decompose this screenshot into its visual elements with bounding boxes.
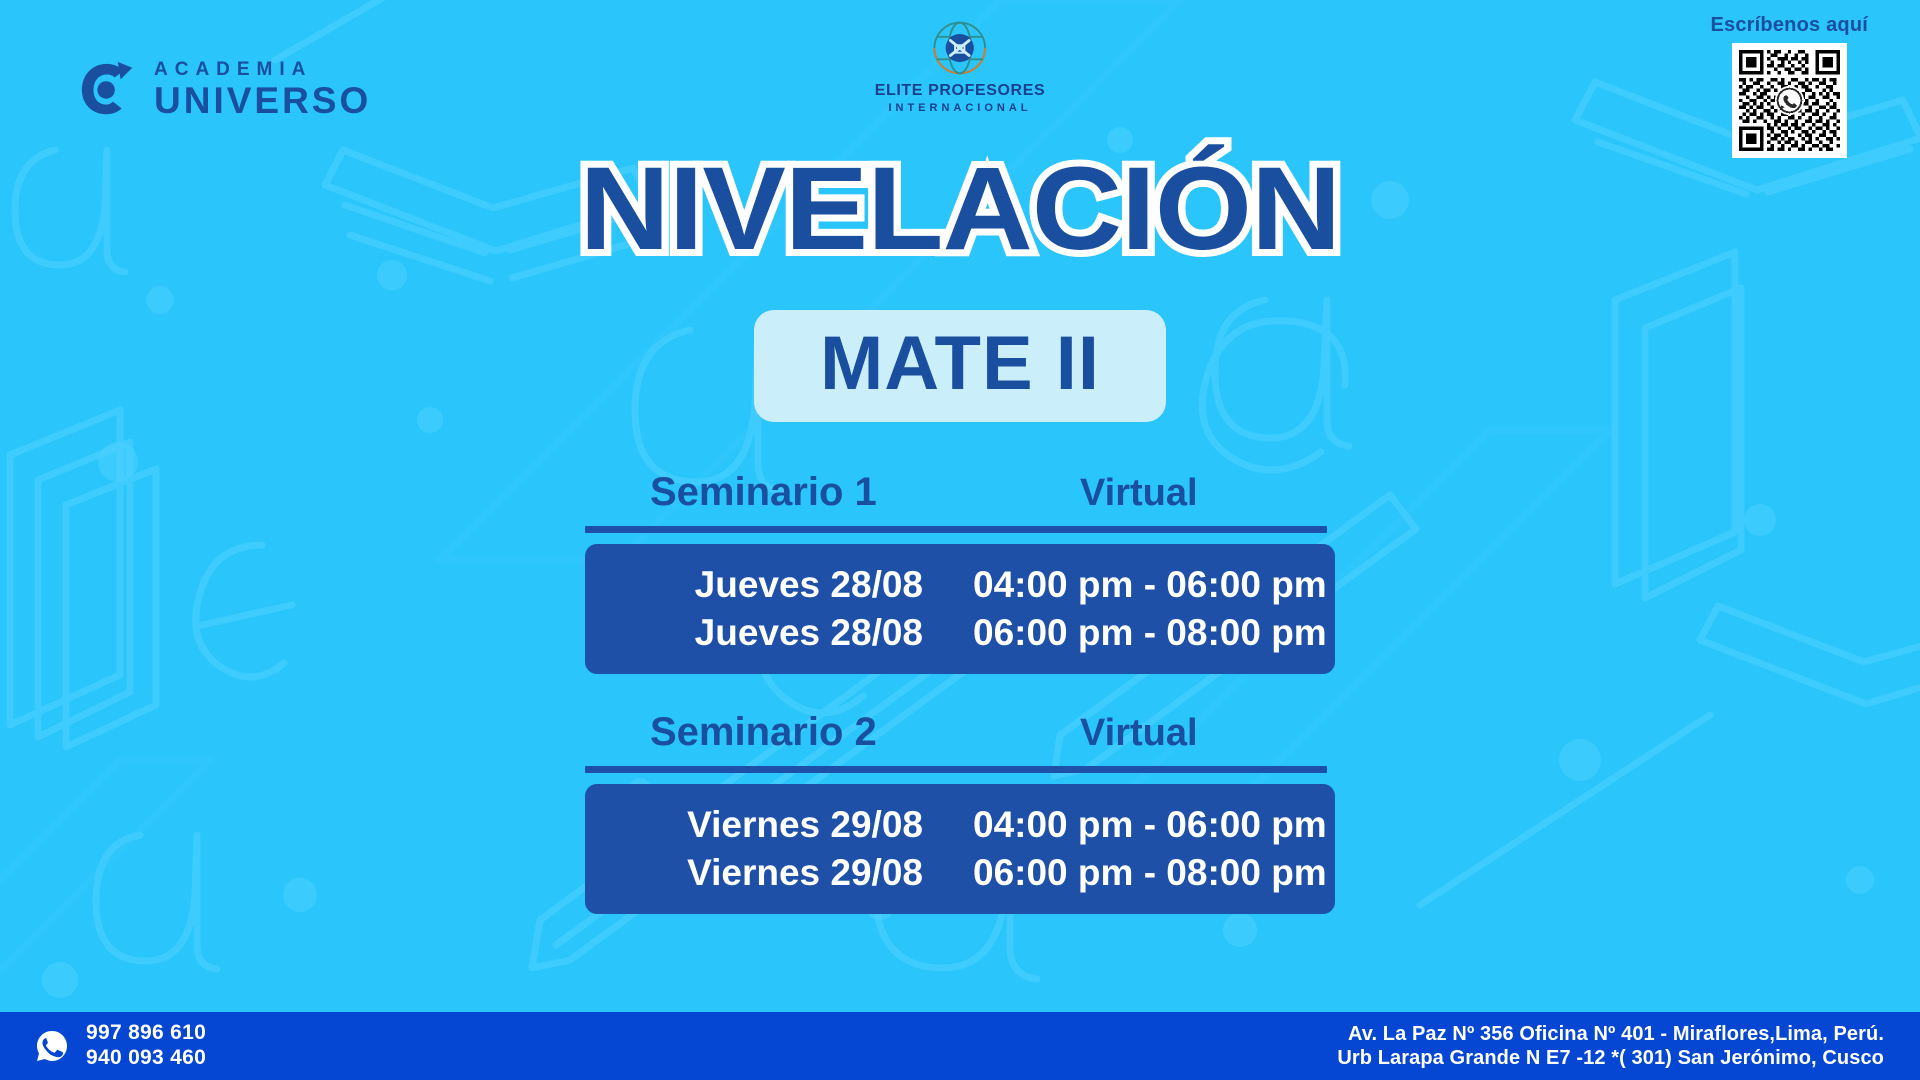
elite-logo-subtitle: INTERNACIONAL [888,102,1031,114]
schedule-row: Jueves 28/08 04:00 pm - 06:00 pm [585,560,1335,608]
section-divider [585,766,1327,773]
qr-code-image [1739,50,1840,151]
academia-universo-mark [78,58,140,120]
footer: 997 896 610 940 093 460 Av. La Paz Nº 35… [0,1012,1920,1080]
schedule-row: Viernes 29/08 04:00 pm - 06:00 pm [585,800,1335,848]
schedule-time: 06:00 pm - 08:00 pm [965,614,1335,651]
elite-profesores-logo: ELITE PROFESORES INTERNACIONAL [875,18,1046,114]
seminar-section-2: Seminario 2 Virtual Viernes 29/08 04:00 … [585,710,1335,766]
whatsapp-icon[interactable] [34,1028,70,1064]
qr-label: Escríbenos aquí [1711,14,1869,37]
address-line-1: Av. La Paz Nº 356 Oficina Nº 401 - Miraf… [1337,1022,1884,1046]
footer-address: Av. La Paz Nº 356 Oficina Nº 401 - Miraf… [1337,1022,1884,1070]
address-line-2: Urb Larapa Grande N E7 -12 *( 301) San J… [1337,1046,1884,1070]
section-mode: Virtual [1080,713,1198,755]
schedule-time: 06:00 pm - 08:00 pm [965,854,1335,891]
schedule-row: Viernes 29/08 06:00 pm - 08:00 pm [585,848,1335,896]
qr-block: Escríbenos aquí [1711,14,1869,158]
section-divider [585,526,1327,533]
academia-universo-logo: ACADEMIA UNIVERSO [78,58,371,120]
footer-contact: 997 896 610 940 093 460 [34,1021,206,1071]
phone-number-1: 997 896 610 [86,1021,206,1046]
whatsapp-qr-code[interactable] [1732,43,1847,158]
subtitle-badge: MATE II [754,310,1166,422]
schedule-date: Jueves 28/08 [585,614,965,651]
seminar-section-1: Seminario 1 Virtual Jueves 28/08 04:00 p… [585,470,1335,526]
phone-numbers: 997 896 610 940 093 460 [86,1021,206,1071]
schedule-date: Jueves 28/08 [585,566,965,603]
section-title: Seminario 2 [650,710,877,754]
section-mode: Virtual [1080,473,1198,515]
schedule-time: 04:00 pm - 06:00 pm [965,806,1335,843]
academia-logo-line1: ACADEMIA [154,60,371,79]
schedule-time: 04:00 pm - 06:00 pm [965,566,1335,603]
page-title: NIVELACIÓN [580,150,1341,268]
schedule-date: Viernes 29/08 [585,806,965,843]
academia-logo-line2: UNIVERSO [154,82,371,119]
globe-icon [930,18,990,78]
section-header: Seminario 1 Virtual [585,470,1335,526]
title-wrap: NIVELACIÓN [0,150,1920,268]
schedule-date: Viernes 29/08 [585,854,965,891]
schedule-panel: Jueves 28/08 04:00 pm - 06:00 pm Jueves … [585,544,1335,674]
elite-logo-name: ELITE PROFESORES [875,82,1046,100]
section-header: Seminario 2 Virtual [585,710,1335,766]
schedule-panel: Viernes 29/08 04:00 pm - 06:00 pm Vierne… [585,784,1335,914]
header: ACADEMIA UNIVERSO ELITE PROFESORES INTER… [0,0,1920,165]
phone-number-2: 940 093 460 [86,1046,206,1071]
subtitle-text: MATE II [820,326,1100,402]
section-title: Seminario 1 [650,470,877,514]
schedule-row: Jueves 28/08 06:00 pm - 08:00 pm [585,608,1335,656]
